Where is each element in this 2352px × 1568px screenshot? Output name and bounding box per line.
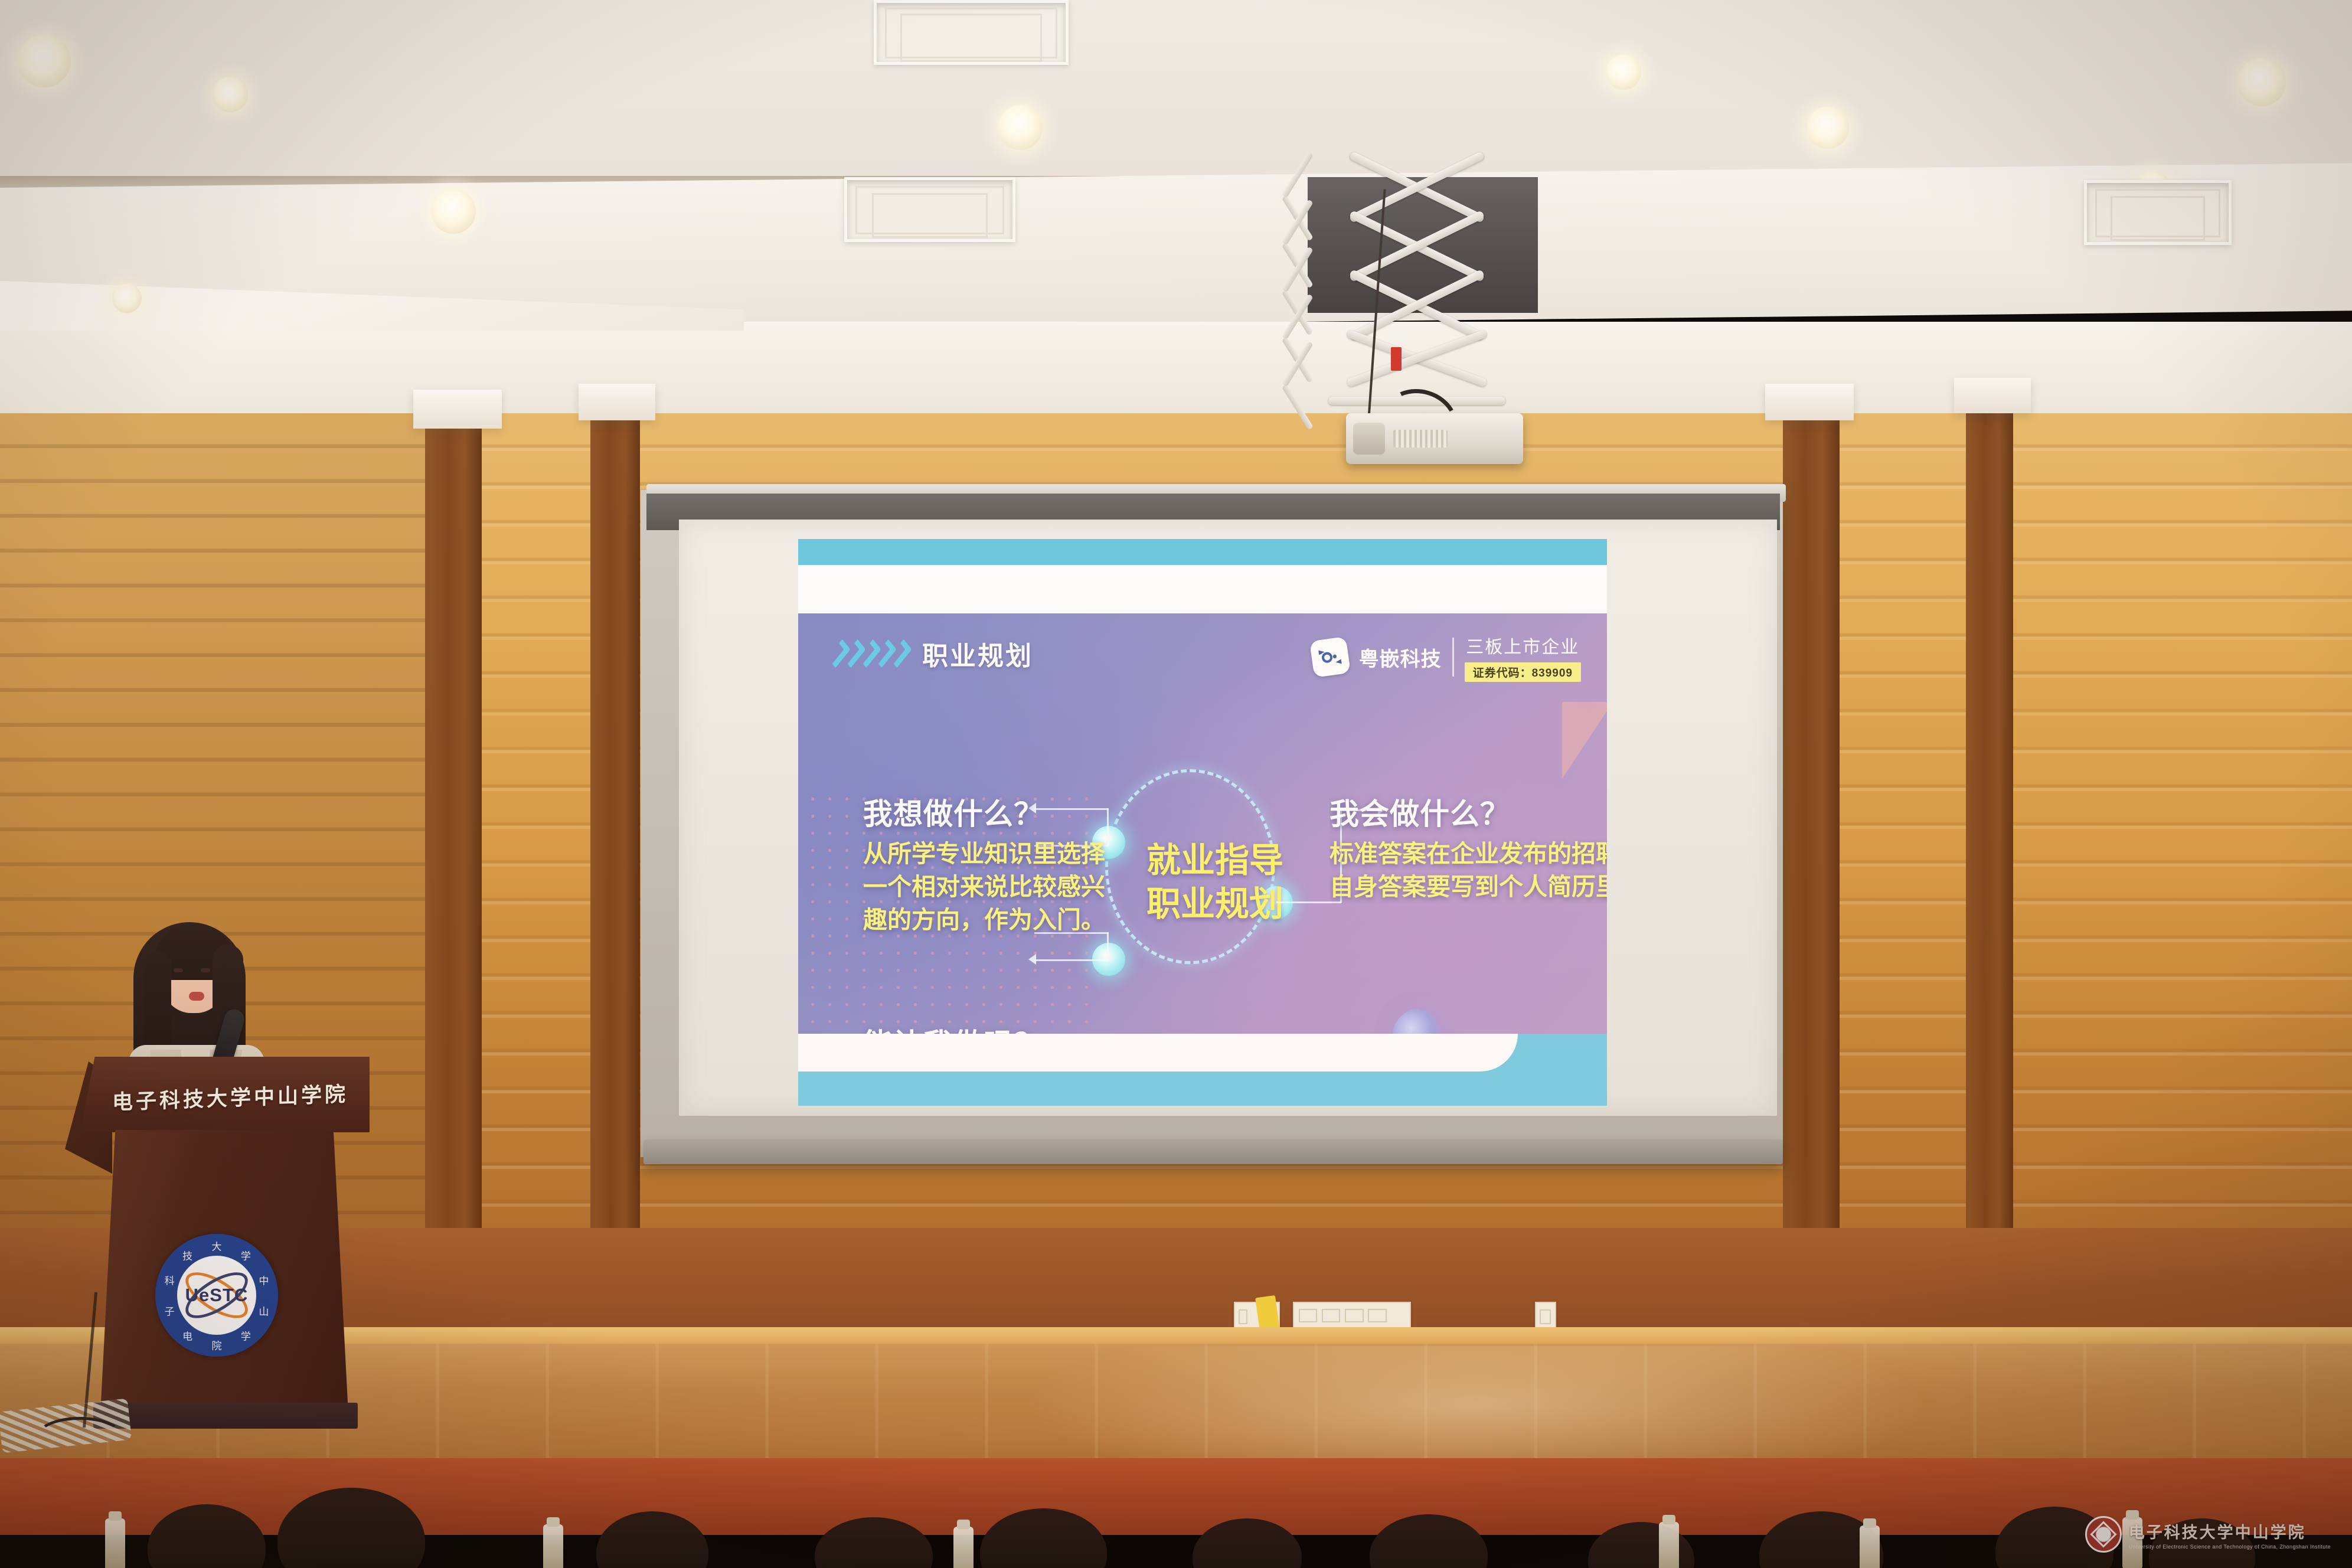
recessed-downlight-icon bbox=[18, 34, 71, 87]
connector-line bbox=[1107, 932, 1109, 961]
hvac-diffuser-icon bbox=[2084, 180, 2232, 245]
triangle-decoration bbox=[1562, 702, 1607, 779]
brand-subtitle: 三板上市企业 bbox=[1466, 632, 1579, 658]
ceiling-upper bbox=[0, 0, 2352, 177]
slide-top-band bbox=[798, 539, 1607, 565]
wall-pilaster bbox=[1966, 413, 2013, 1334]
recessed-downlight-icon bbox=[1807, 106, 1849, 149]
slide-white-band bbox=[798, 565, 1607, 613]
podium: 电子科技大学中山学院 电 子 科 技 大 学 中 山 学 院 UeSTC bbox=[70, 1057, 377, 1435]
hvac-diffuser-icon bbox=[874, 0, 1069, 65]
recessed-downlight-icon bbox=[213, 77, 248, 112]
connector-line bbox=[1107, 808, 1109, 845]
university-seal-icon bbox=[2085, 1516, 2122, 1553]
scissor-lift-icon bbox=[1319, 177, 1514, 425]
recessed-downlight-icon bbox=[2237, 58, 2286, 106]
sphere-decoration bbox=[1391, 1009, 1443, 1034]
watermark: 电子科技大学中山学院 University of Electronic Scie… bbox=[2085, 1516, 2331, 1553]
lift-red-marker bbox=[1391, 347, 1402, 371]
block-answer-line: 标准答案在企业发布的招聘 bbox=[1329, 838, 1607, 871]
screen-weight-bar bbox=[643, 1139, 1783, 1164]
pillar-cap bbox=[1954, 378, 2031, 413]
yueqian-logo-icon bbox=[1309, 636, 1351, 678]
pillar-cap bbox=[413, 390, 502, 429]
slide-title: 职业规划 bbox=[922, 635, 1033, 672]
block-question: 我会做什么？ bbox=[1329, 790, 1607, 833]
center-label-line1: 就业指导 bbox=[1146, 839, 1341, 883]
block-answer-line: 自身答案要写到个人简历里 bbox=[1329, 871, 1607, 904]
recessed-downlight-icon bbox=[998, 105, 1043, 150]
presenter-eye bbox=[201, 968, 210, 972]
stock-code-badge: 证券代码：839909 bbox=[1465, 662, 1581, 682]
watermark-chinese: 电子科技大学中山学院 bbox=[2129, 1520, 2331, 1543]
text-block-right: 我会做什么？ 标准答案在企业发布的招聘 自身答案要写到个人简历里 bbox=[1329, 790, 1607, 904]
brand-divider bbox=[1452, 638, 1454, 677]
presenter-mouth bbox=[189, 992, 204, 1001]
projector-lens-icon bbox=[1353, 423, 1385, 455]
arrow-head-icon bbox=[1028, 954, 1036, 965]
wall-outlet-panel-icon[interactable] bbox=[1293, 1302, 1411, 1330]
wall-pilaster bbox=[590, 413, 640, 1334]
lecture-hall-photo: 46 职业规划 bbox=[0, 0, 2352, 1568]
block-question: 能让我做吗？ bbox=[863, 1021, 1144, 1034]
pillar-cap bbox=[579, 384, 655, 420]
brand-block: 粤嵌科技 三板上市企业 证券代码：839909 bbox=[1312, 632, 1581, 682]
water-bottle bbox=[105, 1518, 125, 1568]
presenter-eye bbox=[174, 968, 183, 972]
pillar-cap bbox=[1765, 384, 1854, 420]
connector-line bbox=[1034, 959, 1109, 961]
lift-secondary-arm bbox=[1284, 188, 1293, 418]
center-label: 就业指导 职业规划 bbox=[1146, 839, 1341, 926]
block-answer-line: 趣的方向，作为入门。 bbox=[863, 904, 1105, 937]
chevron-right-icon bbox=[832, 642, 907, 665]
center-label-line2: 职业规划 bbox=[1146, 883, 1341, 926]
uestc-logo-icon: 电 子 科 技 大 学 中 山 学 院 UeSTC bbox=[155, 1234, 278, 1357]
wall-pilaster bbox=[1783, 413, 1840, 1334]
podium-base bbox=[93, 1403, 358, 1429]
wall-pilaster bbox=[425, 413, 482, 1334]
slide-bottom-swoosh bbox=[798, 1034, 1518, 1072]
block-answer-line: 从所学专业知识里选择 bbox=[863, 838, 1105, 871]
recessed-downlight-icon bbox=[1606, 54, 1641, 90]
water-bottle bbox=[543, 1524, 563, 1568]
uestc-wordmark: UeSTC bbox=[185, 1285, 249, 1306]
water-bottle bbox=[953, 1527, 974, 1568]
recessed-downlight-icon bbox=[112, 283, 142, 313]
floor-cable-loop bbox=[35, 1417, 124, 1458]
presentation-slide: 职业规划 粤嵌科技 三板上市企业 证券代码：839909 bbox=[798, 539, 1607, 1106]
brand-name: 粤嵌科技 bbox=[1359, 643, 1442, 672]
recessed-downlight-icon bbox=[431, 189, 476, 234]
water-bottle bbox=[1860, 1525, 1880, 1568]
slide-header: 职业规划 bbox=[832, 635, 1033, 672]
watermark-english: University of Electronic Science and Tec… bbox=[2129, 1544, 2331, 1550]
slide-content-area: 职业规划 粤嵌科技 三板上市企业 证券代码：839909 bbox=[798, 613, 1607, 1034]
text-block-left-top: 我想做什么？ 从所学专业知识里选择 一个相对来说比较感兴 趣的方向，作为入门。 bbox=[863, 790, 1105, 936]
block-question: 我想做什么？ bbox=[863, 790, 1105, 833]
block-answer-line: 一个相对来说比较感兴 bbox=[863, 871, 1105, 904]
text-block-left-bottom: 能让我做吗？ 拿什么说服Hr给你offer? 如何达到自己满意的薪资? 如何在企… bbox=[863, 1021, 1144, 1034]
hvac-diffuser-icon bbox=[844, 177, 1015, 242]
water-bottle bbox=[1659, 1522, 1679, 1568]
